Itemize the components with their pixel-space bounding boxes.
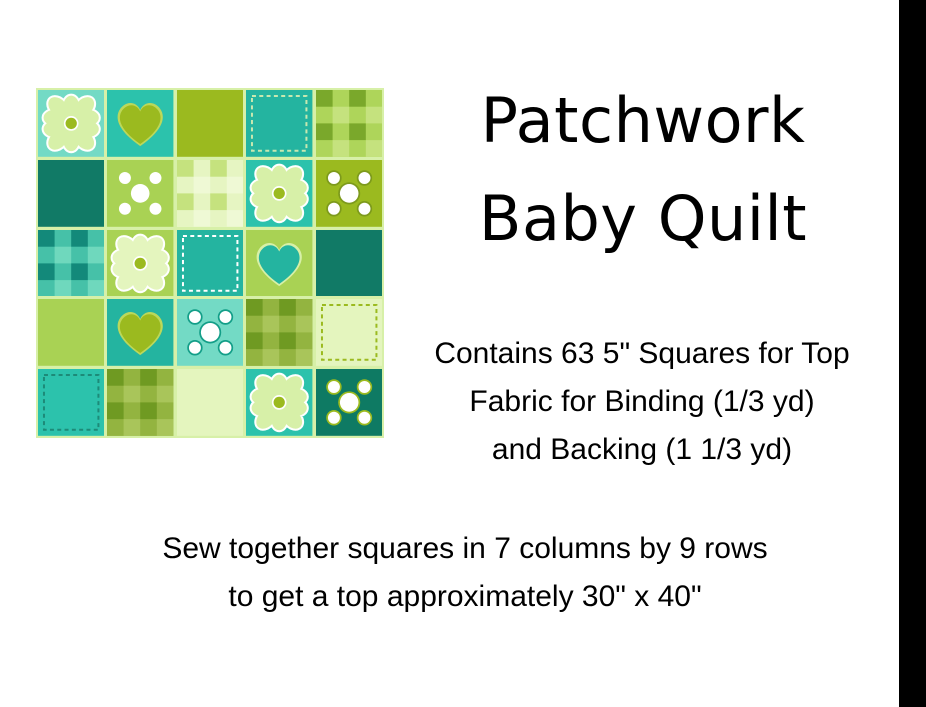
quilt-square-1-1-daisy [38,90,104,157]
quilt-square-1-5-plaid [316,90,382,157]
contains-description: Contains 63 5" Squares for Top Fabric fo… [392,330,892,474]
quilt-square-5-2-plaid [107,369,173,436]
sewing-instructions: Sew together squares in 7 columns by 9 r… [60,525,870,621]
quilt-square-2-5-dots-ring [316,160,382,227]
quilt-square-3-1-plaid [38,230,104,297]
quilt-square-1-2-heart [107,90,173,157]
page-title: Patchwork Baby Quilt [398,72,888,268]
quilt-square-4-1-solid [38,299,104,366]
quilt-square-3-2-daisy [107,230,173,297]
quilt-square-4-2-heart [107,299,173,366]
quilt-square-4-4-plaid [246,299,312,366]
quilt-square-3-4-heart [246,230,312,297]
quilt-square-2-2-dots [107,160,173,227]
quilt-square-3-5-solid [316,230,382,297]
quilt-square-5-4-daisy [246,369,312,436]
quilt-square-3-3-dashed-frame [177,230,243,297]
quilt-square-2-1-solid [38,160,104,227]
quilt-square-4-5-dashed-frame [316,299,382,366]
quilt-square-5-3-solid [177,369,243,436]
quilt-square-2-4-daisy [246,160,312,227]
quilt-square-4-3-dots-ring [177,299,243,366]
quilt-image [36,88,384,438]
quilt-grid [36,88,384,438]
right-edge-bar [899,0,926,707]
quilt-square-2-3-plaid [177,160,243,227]
quilt-square-5-5-dots-ring [316,369,382,436]
quilt-square-1-4-dashed-frame [246,90,312,157]
quilt-square-1-3-solid [177,90,243,157]
quilt-square-5-1-dashed-frame [38,369,104,436]
